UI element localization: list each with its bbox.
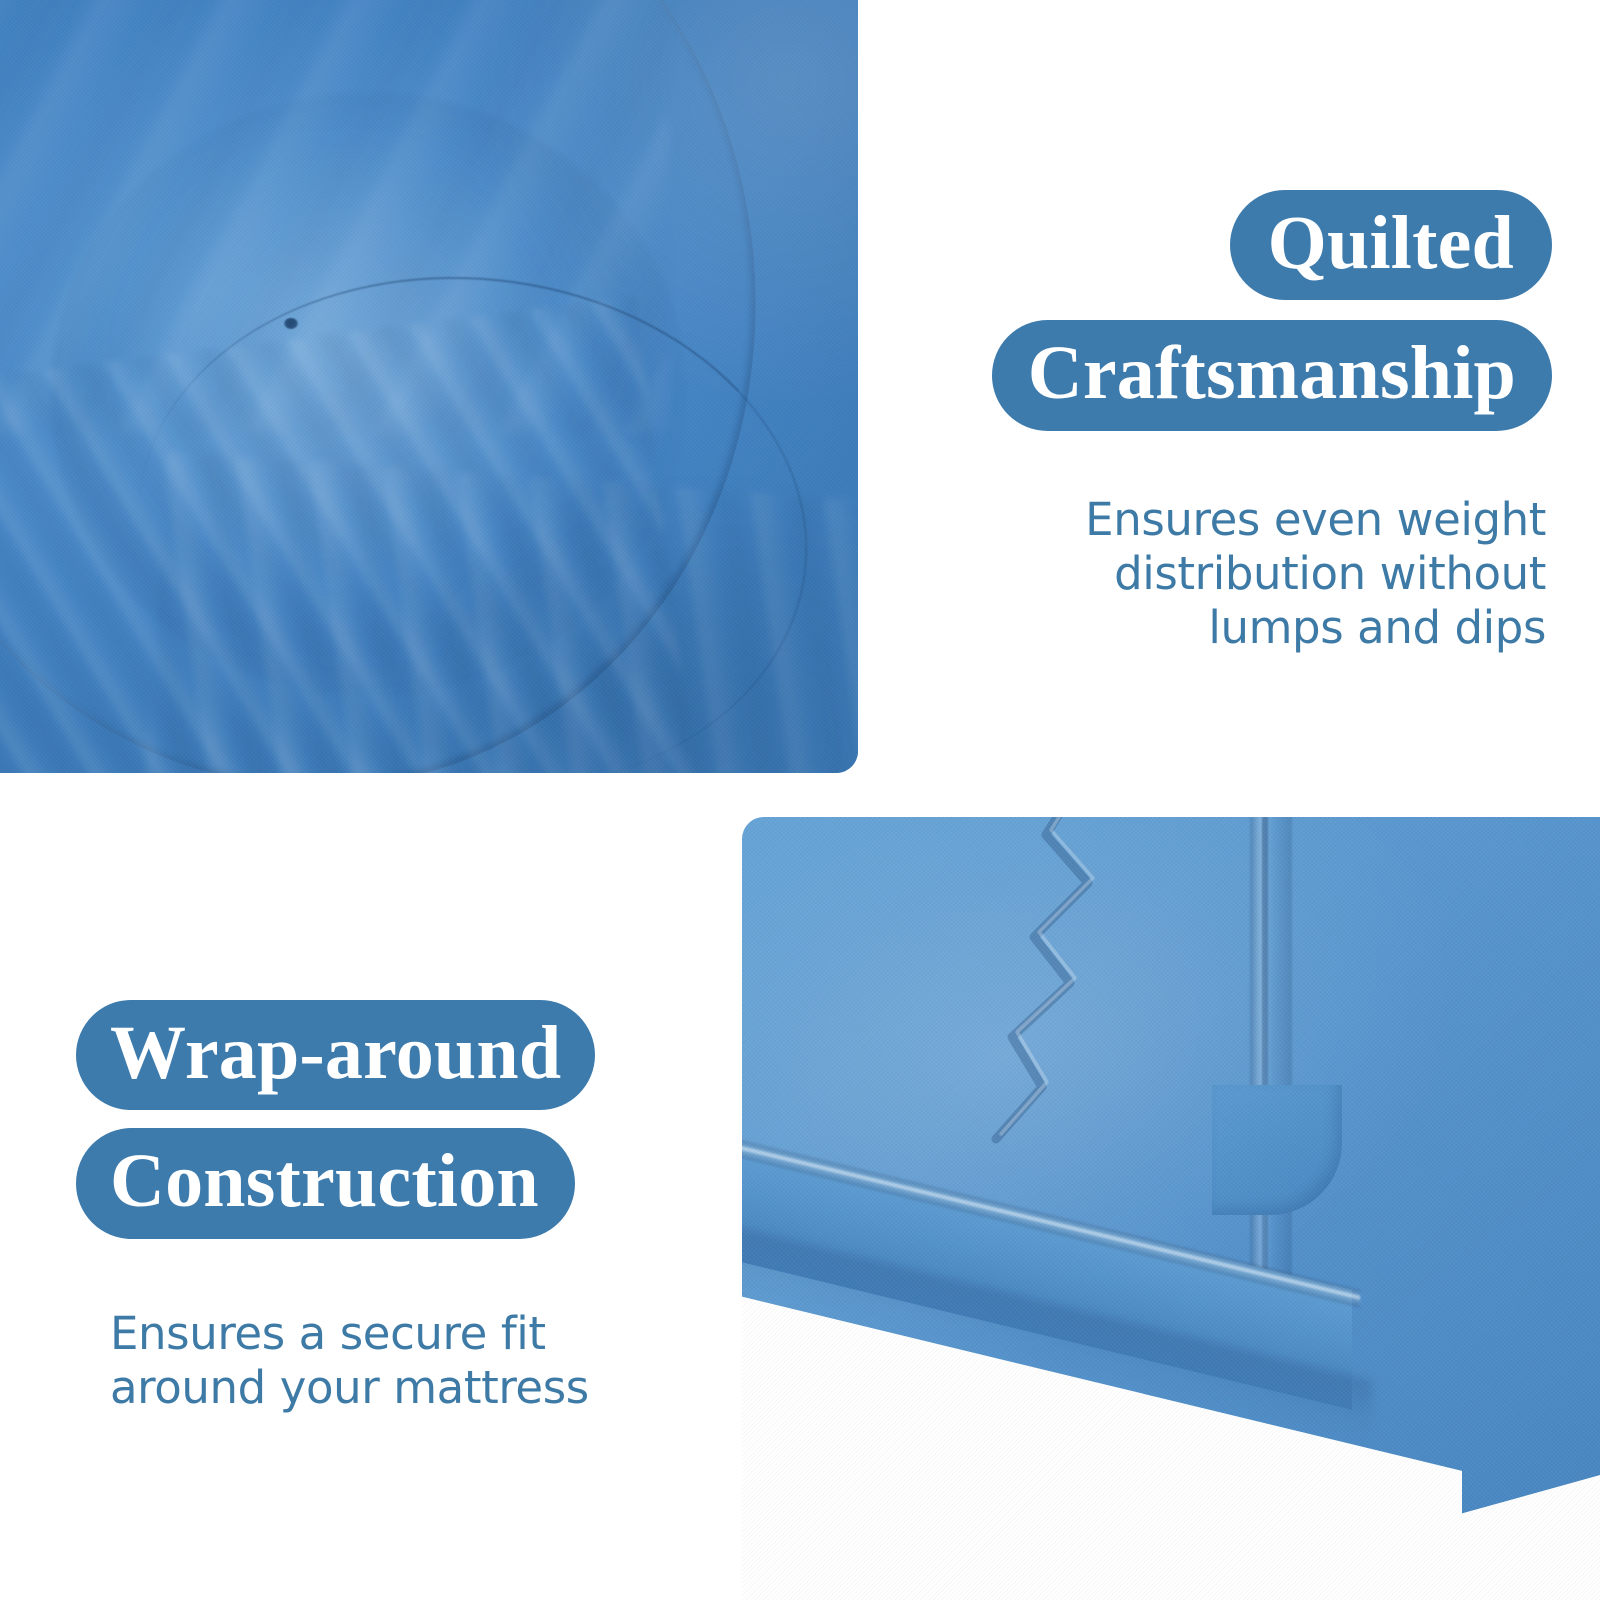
feature-block-quilted-craftsmanship: Quilted Craftsmanship Ensures even weigh… xyxy=(880,190,1552,655)
feature-heading-pill-construction: Construction xyxy=(76,1128,575,1238)
feature-heading-pill-wrap-around: Wrap-around xyxy=(76,1000,595,1110)
feature-description-wrap-around-construction: Ensures a secure fit around your mattres… xyxy=(110,1307,589,1415)
feature-description-quilted-craftsmanship: Ensures even weight distribution without… xyxy=(1085,493,1546,655)
feature-heading-pill-quilted: Quilted xyxy=(1230,190,1552,300)
infographic-canvas: Quilted Craftsmanship Ensures even weigh… xyxy=(0,0,1600,1600)
feature-block-wrap-around-construction: Wrap-around Construction Ensures a secur… xyxy=(76,1000,696,1415)
feature-heading-pill-craftsmanship: Craftsmanship xyxy=(992,320,1552,430)
mattress-topper-corner-image xyxy=(742,817,1600,1600)
topper-right-piping-seam xyxy=(1262,817,1268,1342)
topper-body-group xyxy=(742,817,1600,1600)
fabric-weave-texture xyxy=(0,0,858,773)
quilted-fabric-closeup-image xyxy=(0,0,858,773)
topper-zigzag-quilt-stitch xyxy=(938,817,1168,1117)
